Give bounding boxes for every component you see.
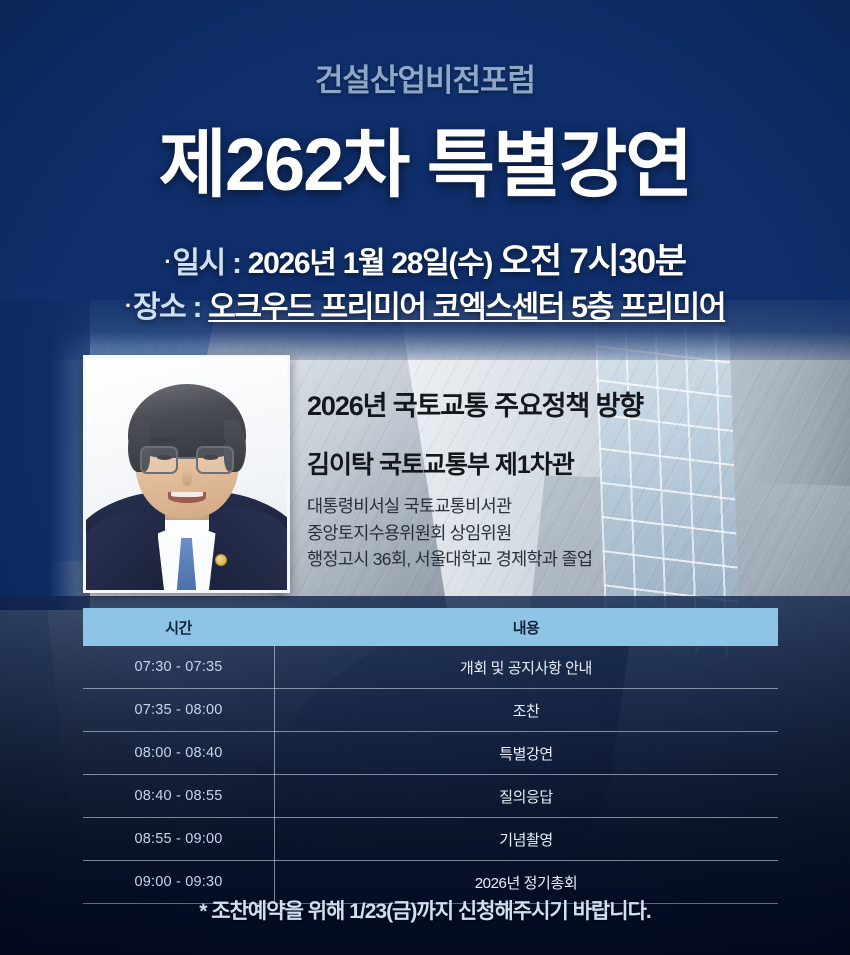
cell-time: 08:00 - 08:40 — [83, 745, 274, 761]
page-title: 제262차 특별강연 — [0, 105, 850, 212]
venue-label: 장소 : — [133, 291, 201, 324]
column-header-content: 내용 — [513, 620, 540, 637]
cell-content: 특별강연 — [274, 743, 778, 764]
date-label: 일시 : — [172, 247, 240, 280]
table-row: 08:40 - 08:55 질의응답 — [83, 775, 778, 818]
agenda-table: 시간 내용 07:30 - 07:35 개회 및 공지사항 안내 07:35 -… — [83, 608, 778, 904]
cell-content: 조찬 — [274, 700, 778, 721]
event-venue-line: ·장소 : 오크우드 프리미어 코엑스센터 5층 프리미어 — [0, 287, 850, 330]
cell-time: 08:40 - 08:55 — [83, 788, 274, 804]
cell-content: 기념촬영 — [274, 829, 778, 850]
table-row: 08:55 - 09:00 기념촬영 — [83, 818, 778, 861]
lecture-topic: 2026년 국토교통 주요정책 방향 — [307, 384, 777, 423]
venue-value: 오크우드 프리미어 코엑스센터 5층 프리미어 — [208, 291, 725, 324]
speaker-name-title: 김이탁 국토교통부 제1차관 — [307, 445, 777, 481]
cell-content: 질의응답 — [274, 786, 778, 807]
cell-time: 09:00 - 09:30 — [83, 874, 274, 890]
column-header-time: 시간 — [165, 620, 192, 637]
forum-name: 건설산업비전포럼 — [0, 55, 850, 100]
date-value: 2026년 1월 28일(수) — [248, 247, 492, 280]
table-row: 08:00 - 08:40 특별강연 — [83, 732, 778, 775]
cell-time: 07:30 - 07:35 — [83, 659, 274, 675]
bio-line: 중앙토지수용위원회 상임위원 — [307, 520, 777, 547]
agenda-table-body: 07:30 - 07:35 개회 및 공지사항 안내 07:35 - 08:00… — [83, 646, 778, 904]
agenda-table-header: 시간 내용 — [83, 608, 778, 646]
speaker-bio: 대통령비서실 국토교통비서관 중앙토지수용위원회 상임위원 행정고시 36회, … — [307, 493, 777, 573]
bullet-icon: · — [125, 293, 131, 318]
cell-content: 2026년 정기총회 — [274, 872, 778, 893]
event-poster: 건설산업비전포럼 제262차 특별강연 ·일시 : 2026년 1월 28일(수… — [0, 0, 850, 955]
bio-line: 행정고시 36회, 서울대학교 경제학과 졸업 — [307, 546, 777, 573]
speaker-photo — [83, 355, 290, 593]
cell-time: 07:35 - 08:00 — [83, 702, 274, 718]
table-row: 07:30 - 07:35 개회 및 공지사항 안내 — [83, 646, 778, 689]
event-date-line: ·일시 : 2026년 1월 28일(수) 오전 7시30분 — [0, 237, 850, 287]
table-row: 07:35 - 08:00 조찬 — [83, 689, 778, 732]
bio-line: 대통령비서실 국토교통비서관 — [307, 493, 777, 520]
event-info-block: ·일시 : 2026년 1월 28일(수) 오전 7시30분 ·장소 : 오크우… — [0, 237, 850, 329]
bullet-icon: · — [164, 249, 170, 274]
registration-footnote: * 조찬예약을 위해 1/23(금)까지 신청해주시기 바랍니다. — [0, 895, 850, 925]
cell-content: 개회 및 공지사항 안내 — [274, 657, 778, 678]
time-value: 오전 7시30분 — [499, 242, 686, 281]
speaker-info-card: 2026년 국토교통 주요정책 방향 김이탁 국토교통부 제1차관 대통령비서실… — [307, 358, 777, 590]
cell-time: 08:55 - 09:00 — [83, 831, 274, 847]
lapel-badge-icon — [215, 554, 227, 566]
table-column-divider — [274, 646, 275, 904]
